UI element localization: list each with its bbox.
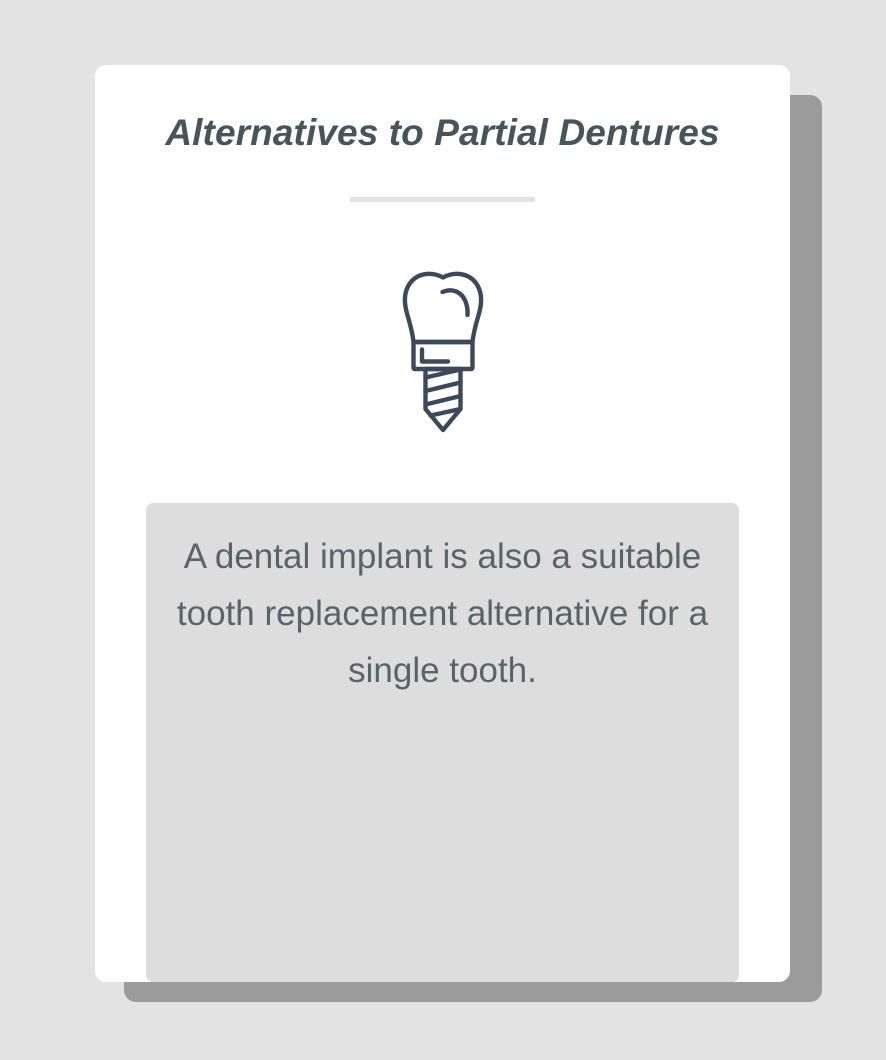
dental-implant-icon (397, 270, 489, 435)
description-text: A dental implant is also a suitable toot… (172, 528, 713, 699)
slide-canvas: Alternatives to Partial Dentures (0, 0, 886, 1060)
title-divider (350, 197, 535, 202)
description-panel: A dental implant is also a suitable toot… (146, 503, 739, 982)
icon-container (95, 270, 790, 435)
content-card: Alternatives to Partial Dentures (95, 65, 790, 982)
page-title: Alternatives to Partial Dentures (95, 112, 790, 154)
